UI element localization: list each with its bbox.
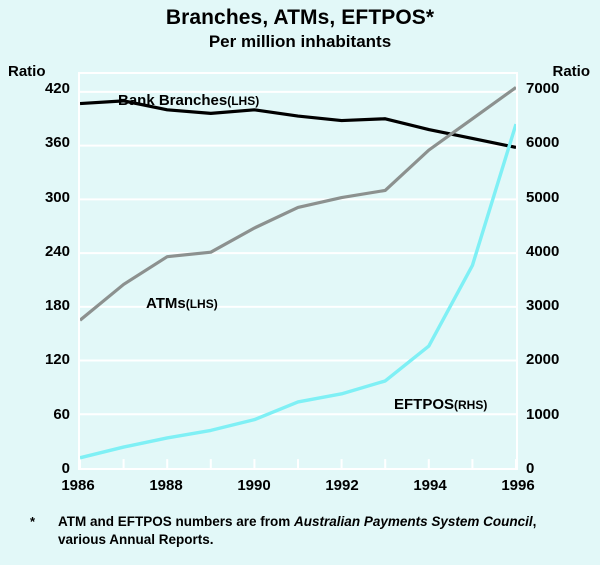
x-tick-1986: 1986 (43, 477, 113, 494)
chart-title: Branches, ATMs, EFTPOS* (0, 6, 600, 30)
x-tick-1996: 1996 (483, 477, 553, 494)
footnote: * ATM and EFTPOS numbers are from Austra… (30, 513, 575, 549)
footnote-source-italic: Australian Payments System Council (294, 514, 533, 529)
left-tick-60: 60 (8, 406, 70, 423)
left-tick-120: 120 (8, 351, 70, 368)
left-axis-unit-label: Ratio (8, 63, 46, 80)
x-tick-1988: 1988 (131, 477, 201, 494)
footnote-part1: ATM and EFTPOS numbers are from (58, 514, 294, 529)
x-tick-1990: 1990 (219, 477, 289, 494)
series-label-atms-side: (LHS) (186, 297, 218, 311)
footnote-text: ATM and EFTPOS numbers are from Australi… (58, 513, 575, 549)
series-label-bank-branches: Bank Branches(LHS) (118, 92, 259, 109)
left-tick-420: 420 (8, 80, 70, 97)
series-label-bank-branches-text: Bank Branches (118, 92, 227, 109)
left-tick-0: 0 (8, 460, 70, 477)
right-tick-2000: 2000 (526, 351, 588, 368)
right-tick-0: 0 (526, 460, 588, 477)
right-axis-unit-label: Ratio (553, 63, 591, 80)
right-tick-7000: 7000 (526, 80, 588, 97)
left-tick-240: 240 (8, 243, 70, 260)
right-tick-3000: 3000 (526, 297, 588, 314)
right-tick-5000: 5000 (526, 189, 588, 206)
right-tick-4000: 4000 (526, 243, 588, 260)
series-label-atms-text: ATMs (146, 295, 186, 312)
x-tick-1992: 1992 (307, 477, 377, 494)
left-tick-300: 300 (8, 189, 70, 206)
chart-subtitle: Per million inhabitants (0, 32, 600, 52)
x-tick-marks (80, 459, 516, 468)
series-label-eftpos: EFTPOS(RHS) (394, 396, 487, 413)
gridlines (80, 92, 516, 414)
left-tick-180: 180 (8, 297, 70, 314)
chart-root: Branches, ATMs, EFTPOS* Per million inha… (0, 0, 600, 565)
series-label-eftpos-text: EFTPOS (394, 396, 454, 413)
series-label-bank-branches-side: (LHS) (227, 94, 259, 108)
x-tick-1994: 1994 (395, 477, 465, 494)
left-tick-360: 360 (8, 134, 70, 151)
series-label-atms: ATMs(LHS) (146, 295, 218, 312)
right-tick-1000: 1000 (526, 406, 588, 423)
footnote-marker: * (30, 513, 35, 531)
right-tick-6000: 6000 (526, 134, 588, 151)
series-label-eftpos-side: (RHS) (454, 398, 487, 412)
